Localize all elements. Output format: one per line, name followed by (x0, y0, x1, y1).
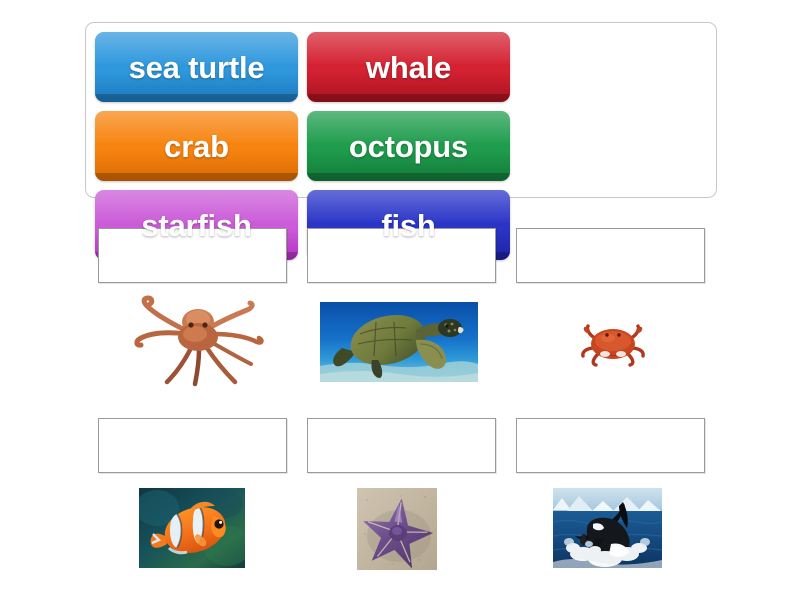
word-tile-label: fish (381, 210, 435, 241)
word-tile-sea-turtle[interactable]: sea turtle (95, 32, 298, 102)
drop-zone-slot-4[interactable] (98, 418, 287, 473)
image-crab (578, 318, 648, 370)
crab-illustration (578, 318, 648, 370)
word-tile-label: octopus (349, 131, 468, 162)
sea-turtle-illustration (320, 302, 478, 382)
drop-zone-slot-3[interactable] (516, 228, 705, 283)
word-tile-label: crab (164, 131, 229, 162)
orca-whale-illustration (553, 488, 662, 568)
octopus-illustration (123, 292, 268, 387)
word-tile-whale[interactable]: whale (307, 32, 510, 102)
starfish-illustration (357, 488, 437, 570)
clownfish-illustration (139, 488, 245, 568)
image-sea-turtle (320, 302, 478, 382)
image-fish (139, 488, 245, 568)
word-tile-tray: sea turtle whale crab octopus starfish f… (85, 22, 717, 198)
word-tile-crab[interactable]: crab (95, 111, 298, 181)
image-starfish (357, 488, 437, 570)
image-whale (553, 488, 662, 568)
word-tile-octopus[interactable]: octopus (307, 111, 510, 181)
drop-zone-slot-6[interactable] (516, 418, 705, 473)
word-tile-label: whale (366, 52, 451, 83)
drop-zone-slot-5[interactable] (307, 418, 496, 473)
word-tile-label: starfish (141, 210, 251, 241)
word-tile-label: sea turtle (129, 52, 265, 83)
image-octopus (123, 292, 268, 387)
